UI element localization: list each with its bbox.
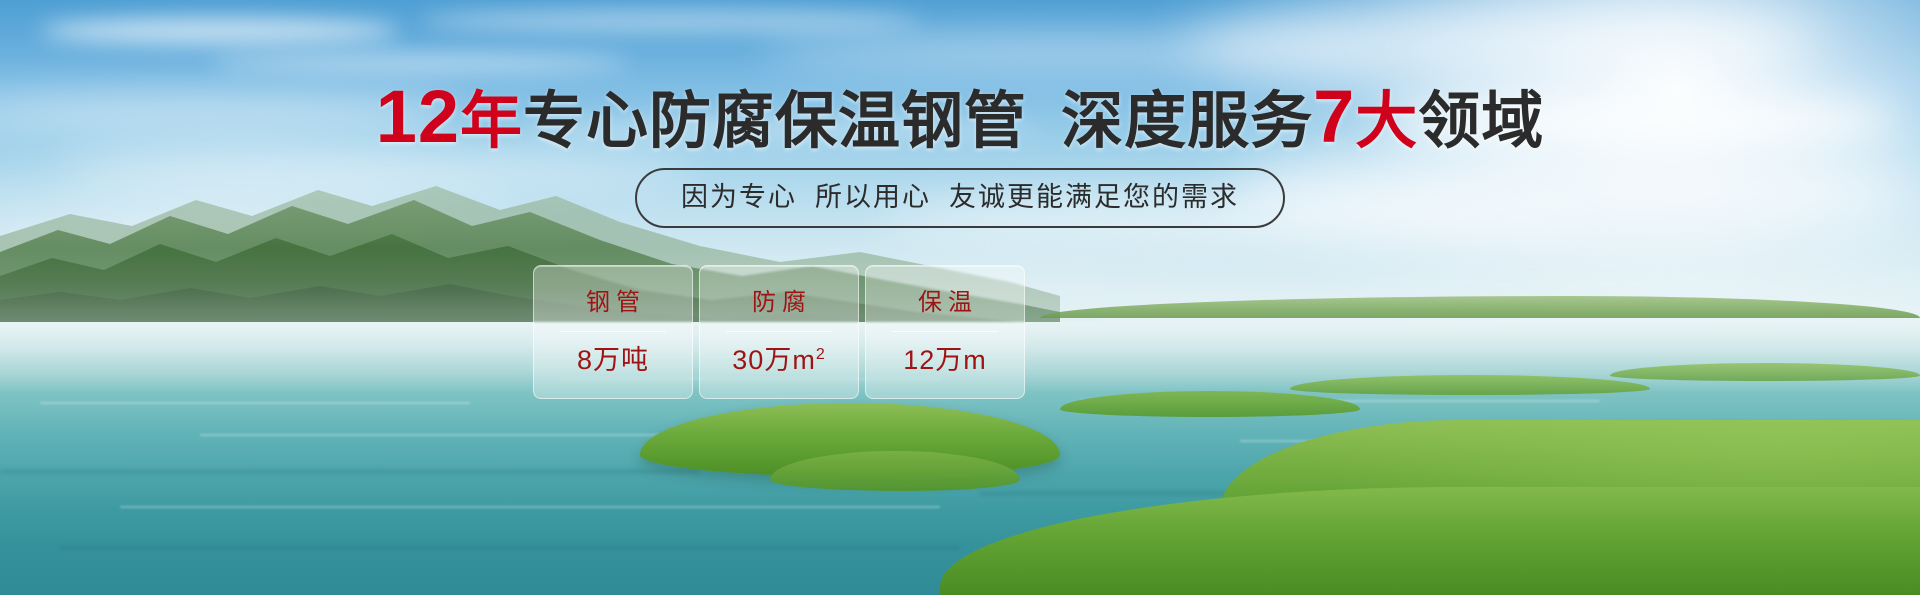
stat-card-divider: [726, 331, 832, 332]
stat-card-insulation: 保温 12万m: [865, 265, 1025, 399]
headline-fields-unit: 大: [1355, 87, 1418, 156]
subtitle-part-2: 所以用心: [815, 182, 931, 212]
stat-card-title: 防腐: [706, 288, 852, 318]
subtitle-part-3: 友诚更能满足您的需求: [949, 182, 1239, 212]
stat-card-title: 钢管: [540, 288, 686, 318]
stat-card-value: 30万m2: [706, 344, 852, 376]
stat-card-value: 8万吨: [540, 344, 686, 376]
stat-card-anticorrosion: 防腐 30万m2: [699, 265, 859, 399]
stat-card-divider: [892, 331, 998, 332]
banner-content: 12年专心防腐保温钢管深度服务7大领域 因为专心所以用心友诚更能满足您的需求 钢…: [0, 0, 1920, 595]
stat-card-value-text: 8万吨: [577, 345, 649, 375]
banner-headline: 12年专心防腐保温钢管深度服务7大领域: [0, 82, 1920, 157]
headline-fields-number: 7: [1313, 75, 1355, 158]
banner-subtitle-wrapper: 因为专心所以用心友诚更能满足您的需求: [0, 168, 1920, 228]
stat-card-value-text: 30万m: [732, 345, 816, 375]
subtitle-part-1: 因为专心: [681, 182, 797, 212]
stat-card-value-superscript: 2: [816, 346, 826, 363]
stat-card-steel-pipe: 钢管 8万吨: [533, 265, 693, 399]
stat-card-list: 钢管 8万吨 防腐 30万m2 保温 12万m: [533, 265, 1025, 399]
headline-service-text: 深度服务: [1061, 87, 1313, 156]
stat-card-value: 12万m: [872, 344, 1018, 376]
stat-card-value-text: 12万m: [903, 345, 987, 375]
headline-years-unit: 年: [460, 87, 523, 156]
banner-subtitle-pill: 因为专心所以用心友诚更能满足您的需求: [635, 168, 1285, 228]
headline-fields-text: 领域: [1418, 87, 1544, 156]
stat-card-title: 保温: [872, 288, 1018, 318]
headline-years-number: 12: [376, 75, 460, 158]
stat-card-divider: [560, 331, 666, 332]
hero-banner: 12年专心防腐保温钢管深度服务7大领域 因为专心所以用心友诚更能满足您的需求 钢…: [0, 0, 1920, 595]
headline-main-text: 专心防腐保温钢管: [523, 87, 1027, 156]
